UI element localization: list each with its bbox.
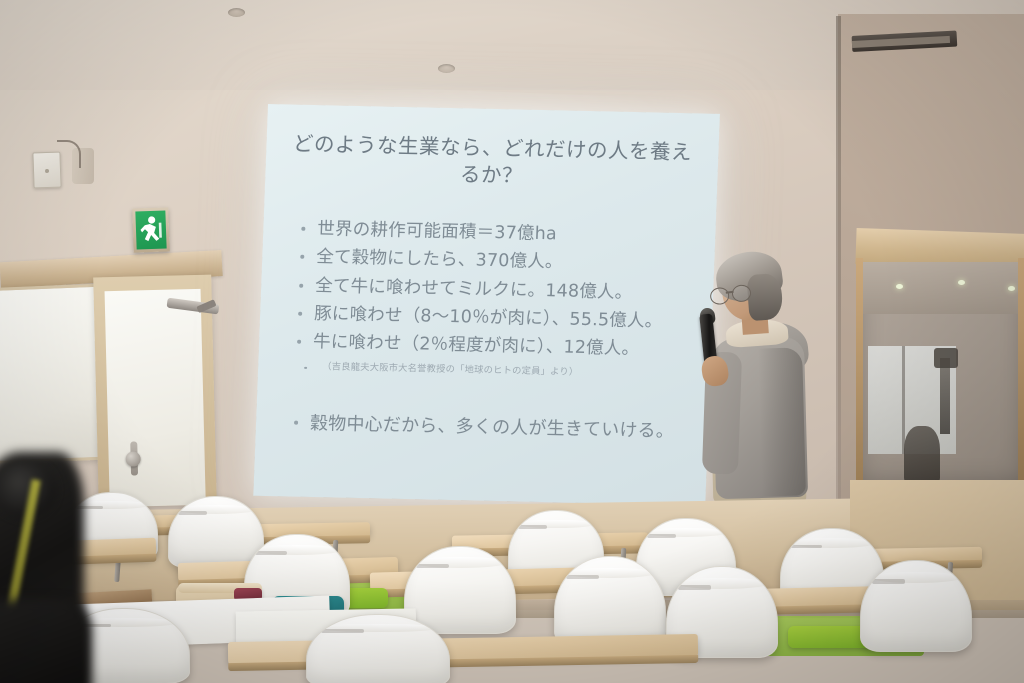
downlight-icon bbox=[958, 280, 965, 285]
projected-slide: どのような生業なら、どれだけの人を養えるか？ 世界の耕作可能面積＝37億ha 全… bbox=[253, 104, 720, 506]
whiteboard bbox=[0, 284, 105, 464]
chair[interactable] bbox=[554, 556, 666, 646]
lecture-hall-photo: どのような生業なら、どれだけの人を養えるか？ 世界の耕作可能面積＝37億ha 全… bbox=[0, 0, 1024, 683]
sprinkler-icon bbox=[228, 8, 245, 17]
door[interactable] bbox=[105, 289, 206, 507]
exit-sign-face bbox=[135, 210, 166, 249]
foreground-bag-lower bbox=[0, 600, 92, 683]
seated-person-silhouette bbox=[904, 426, 940, 482]
glass-partition bbox=[860, 262, 1024, 482]
downlight-icon bbox=[1008, 286, 1015, 291]
downlight-icon bbox=[896, 284, 903, 289]
camera-tripod bbox=[940, 358, 950, 434]
chair[interactable] bbox=[860, 560, 972, 652]
camera-icon bbox=[934, 348, 958, 368]
glass-frame-right bbox=[1018, 258, 1024, 486]
glass-reflected-ceiling bbox=[860, 262, 1024, 314]
glass-frame-left bbox=[856, 258, 863, 486]
slide-bullet-list: 世界の耕作可能面積＝37億ha 全て穀物にしたら、370億人。 全て牛に喰わせて… bbox=[274, 214, 698, 446]
slide-conclusion: 穀物中心だから、多くの人が生きていける。 bbox=[290, 408, 691, 446]
exit-sign bbox=[132, 207, 170, 252]
slide-title: どのような生業なら、どれだけの人を養えるか？ bbox=[283, 130, 701, 193]
wall-corner-edge bbox=[836, 16, 841, 576]
door-knob[interactable] bbox=[125, 451, 140, 466]
chair[interactable] bbox=[306, 614, 450, 683]
sprinkler-icon bbox=[438, 64, 455, 73]
torso-shading bbox=[758, 347, 806, 496]
running-person-icon bbox=[138, 213, 166, 248]
door-frame bbox=[93, 275, 217, 508]
wall-speaker bbox=[32, 152, 61, 189]
